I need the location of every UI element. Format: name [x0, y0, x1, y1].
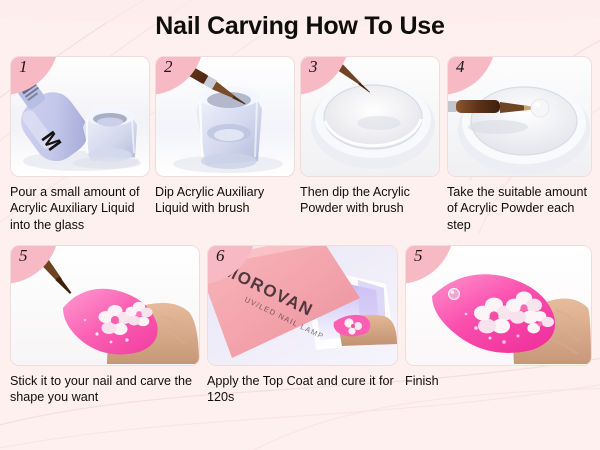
step-card-3[interactable]: 3 Then dip the Acrylic Powder with brush	[300, 56, 438, 217]
step-4-image: 4	[447, 56, 592, 177]
step-number-5: 5	[19, 247, 28, 264]
step-number-7: 5	[414, 247, 423, 264]
step-number-2: 2	[164, 58, 173, 75]
step-caption-3: Then dip the Acrylic Powder with brush	[300, 184, 438, 217]
step-7-image: 5	[405, 245, 592, 366]
step-card-5[interactable]: 5 Stick it to your nail and carve the sh…	[10, 245, 198, 406]
step-card-4[interactable]: 4 Take the suitable amount of Acrylic Po…	[447, 56, 590, 233]
step-caption-4: Take the suitable amount of Acrylic Powd…	[447, 184, 590, 233]
step-number-3: 3	[309, 58, 318, 75]
step-caption-7: Finish	[405, 373, 590, 389]
step-card-7[interactable]: 5 Finish	[405, 245, 590, 389]
step-caption-1: Pour a small amount of Acrylic Auxiliary…	[10, 184, 148, 233]
step-1-image: M	[10, 56, 150, 177]
step-number-4: 4	[456, 58, 465, 75]
page-title: Nail Carving How To Use	[0, 0, 600, 41]
infographic-page: Nail Carving How To Use	[0, 0, 600, 450]
step-number-6: 6	[216, 247, 225, 264]
step-caption-5: Stick it to your nail and carve the shap…	[10, 373, 198, 406]
step-5-image: 5	[10, 245, 200, 366]
step-caption-6: Apply the Top Coat and cure it for 120s	[207, 373, 396, 406]
step-card-6[interactable]: MOROVAN UV/LED NAIL LAMP 6 Apply the Top…	[207, 245, 396, 406]
step-6-image: MOROVAN UV/LED NAIL LAMP 6	[207, 245, 398, 366]
step-card-1[interactable]: M	[10, 56, 148, 233]
step-3-image: 3	[300, 56, 440, 177]
step-2-image: 2	[155, 56, 295, 177]
step-number-1: 1	[19, 58, 28, 75]
step-card-2[interactable]: 2 Dip Acrylic Auxiliary Liquid with brus…	[155, 56, 293, 217]
step-caption-2: Dip Acrylic Auxiliary Liquid with brush	[155, 184, 293, 217]
